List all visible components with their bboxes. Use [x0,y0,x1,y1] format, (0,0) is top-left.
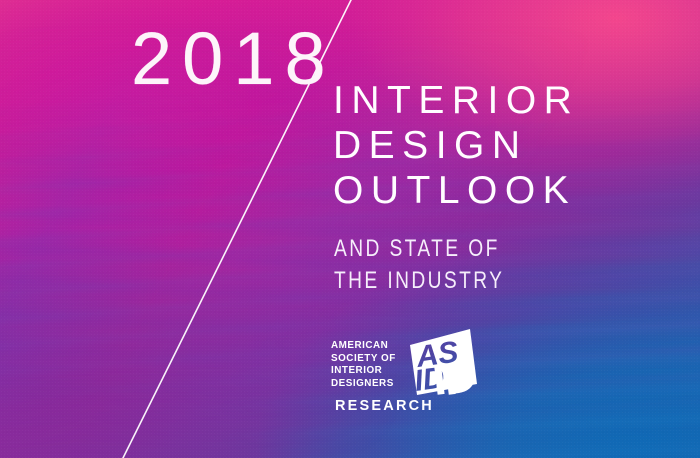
org-line-3: INTERIOR [331,364,396,377]
subtitle-line-1: AND STATE OF [334,233,504,265]
org-line-4: DESIGNERS [331,377,396,390]
cover-subtitle: AND STATE OF THE INDUSTRY [334,233,547,297]
asid-monogram-icon: AS ID [407,327,481,399]
org-line-1: AMERICAN [331,339,396,352]
report-cover: 2018 INTERIOR DESIGN OUTLOOK AND STATE O… [0,0,700,458]
cover-year: 2018 [131,22,336,96]
org-line-2: SOCIETY OF [331,352,396,365]
asid-organization-name: AMERICAN SOCIETY OF INTERIOR DESIGNERS [331,333,396,389]
subtitle-line-2: THE INDUSTRY [334,265,504,297]
title-line-3: OUTLOOK [333,168,579,213]
asid-division-label: RESEARCH [335,398,434,414]
cover-title: INTERIOR DESIGN OUTLOOK [333,78,579,213]
asid-logo: AMERICAN SOCIETY OF INTERIOR DESIGNERS A… [331,333,481,399]
title-line-2: DESIGN [333,123,579,168]
title-line-1: INTERIOR [333,78,579,123]
